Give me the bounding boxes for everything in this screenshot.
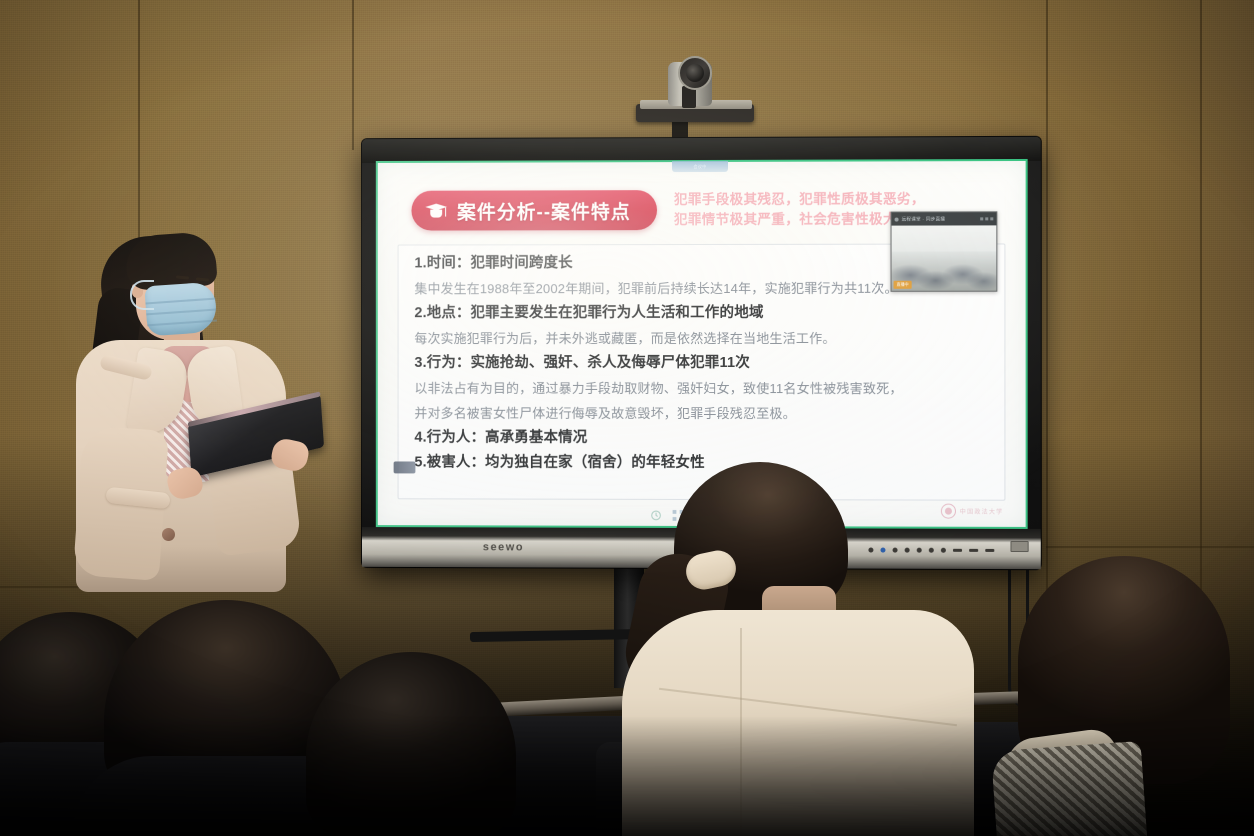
photo-vignette (0, 0, 1254, 836)
lecture-room-photo: 会议中 案件分析--案件特点 犯罪手段极其残忍，犯罪性质极其恶劣， 犯罪情节极其… (0, 0, 1254, 836)
